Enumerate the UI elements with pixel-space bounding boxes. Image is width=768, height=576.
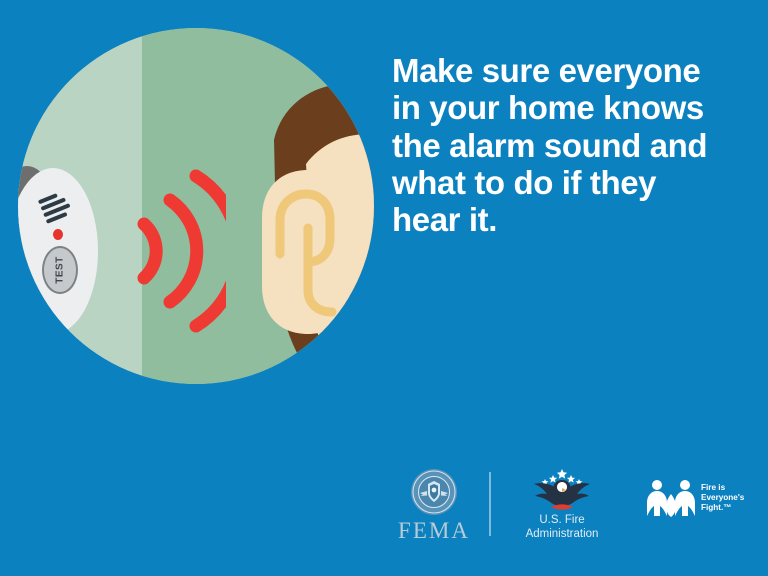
head-svg: [218, 78, 374, 384]
eagle-flame-red: [551, 504, 573, 509]
fire-safety-poster: TEST Make sure everyone in your home kno…: [0, 0, 768, 576]
dhs-seal-icon: [410, 468, 458, 516]
alarm-test-button-label: TEST: [55, 256, 66, 284]
person-head-illustration: [218, 78, 374, 384]
alarm-test-button[interactable]: TEST: [42, 246, 78, 294]
fema-logo: FEMA: [388, 466, 480, 544]
headline-line-5: hear it.: [392, 201, 748, 238]
usfa-eagle-emblem-icon: [531, 466, 593, 512]
fief-line-3: Fight.™: [701, 503, 744, 513]
headline-line-4: what to do if they: [392, 164, 748, 201]
sound-wave-2: [170, 200, 197, 302]
sound-wave-1: [144, 224, 156, 278]
alarm-led-indicator: [53, 229, 63, 240]
logo-divider: [489, 472, 491, 536]
illustration-circle: TEST: [18, 28, 374, 384]
smoke-alarm-illustration: TEST: [18, 166, 108, 336]
usfa-name-line-2: Administration: [506, 527, 618, 541]
fief-line-2: Everyone's: [701, 493, 744, 503]
fief-logo: Fire is Everyone's Fight.™: [646, 466, 764, 518]
fief-line-1: Fire is: [701, 483, 744, 493]
headline-line-3: the alarm sound and: [392, 127, 748, 164]
sound-waves-svg: [126, 156, 226, 346]
headline: Make sure everyone in your home knows th…: [392, 52, 748, 238]
sound-waves: [126, 156, 226, 346]
fema-wordmark: FEMA: [388, 518, 480, 544]
fief-people-emblem-icon: [646, 478, 696, 518]
headline-line-1: Make sure everyone: [392, 52, 748, 89]
logo-bar: FEMA U.S. Fire Administration: [388, 466, 756, 546]
usfa-logo: U.S. Fire Administration: [506, 466, 618, 541]
headline-line-2: in your home knows: [392, 89, 748, 126]
usfa-name-line-1: U.S. Fire: [506, 513, 618, 527]
